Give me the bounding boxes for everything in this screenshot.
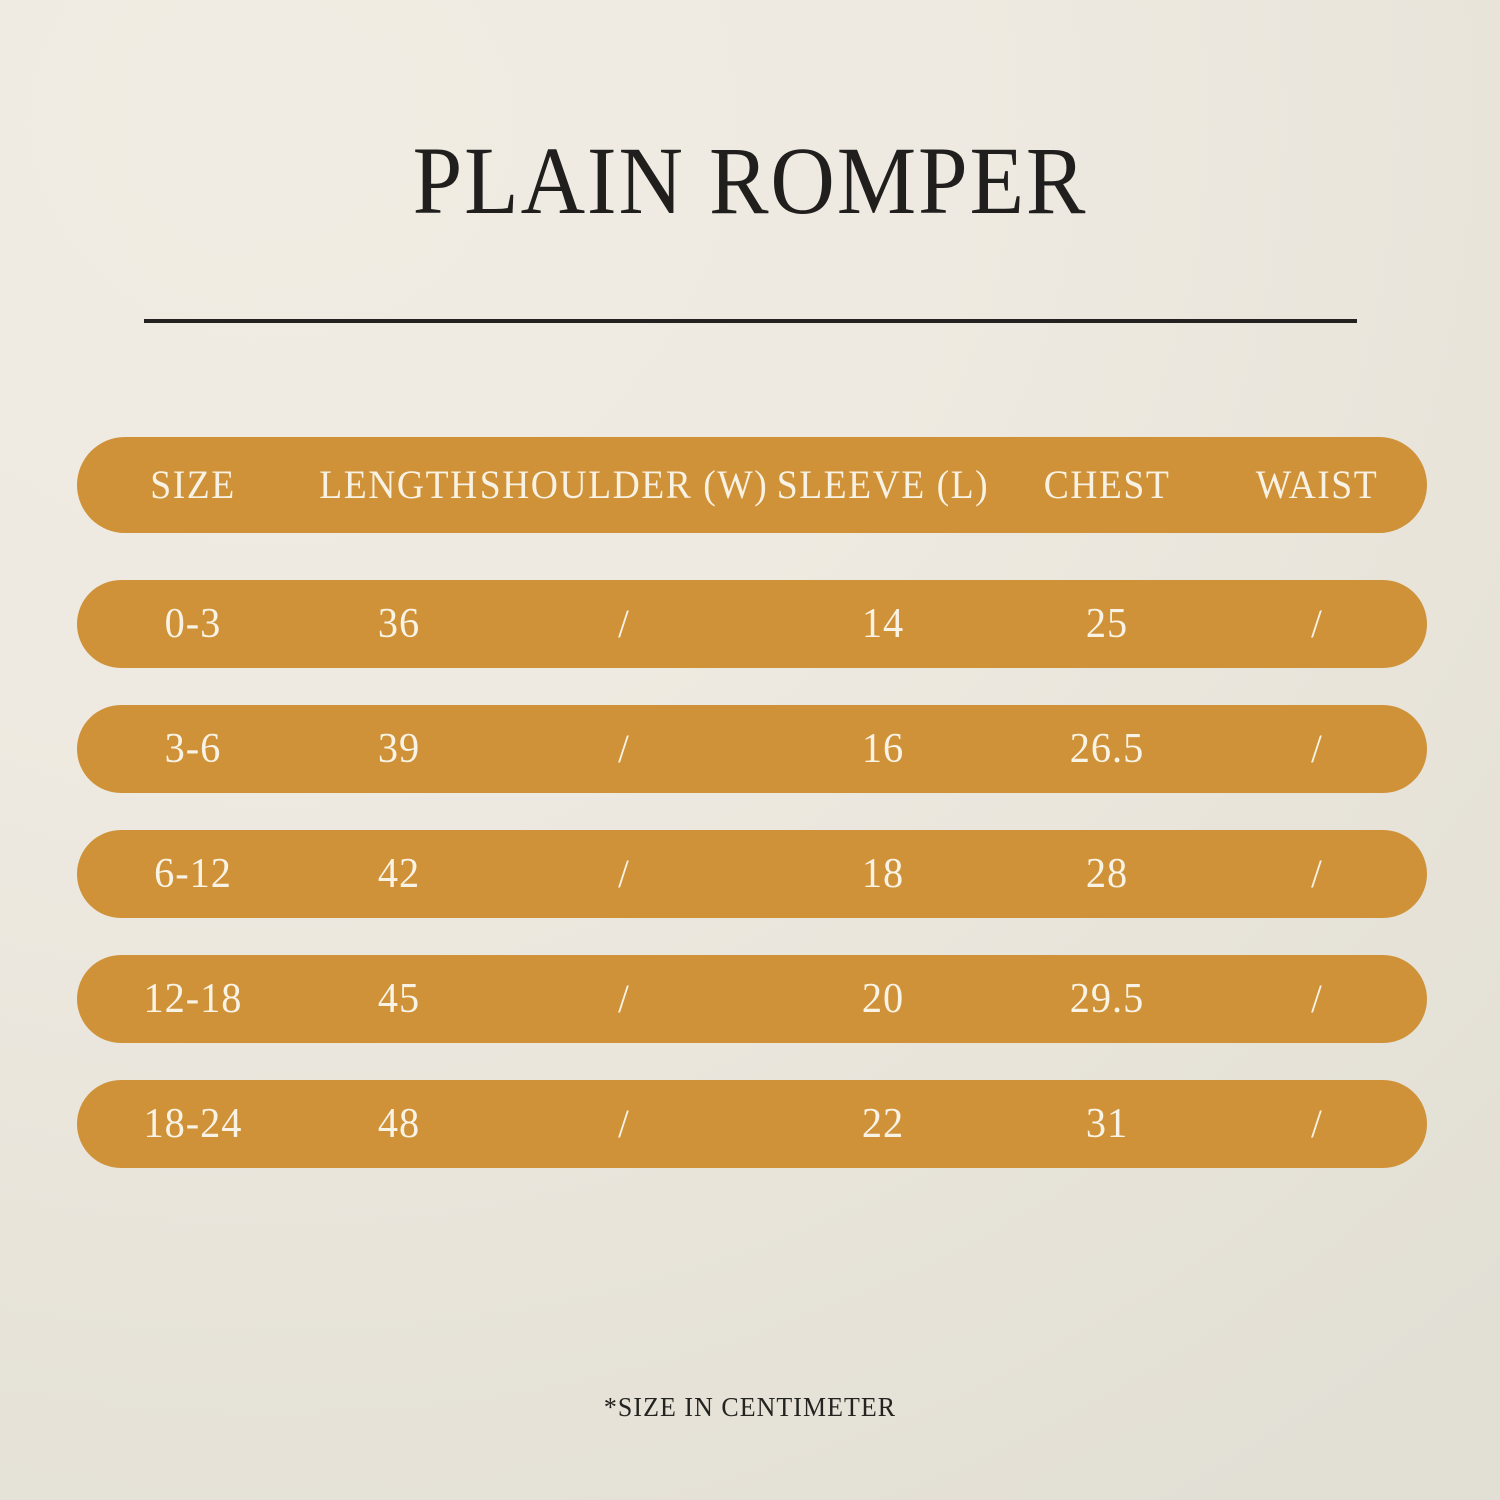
- cell-size: 12-18: [82, 978, 305, 1020]
- table-row: 12-18 45 / 20 29.5 /: [77, 955, 1427, 1043]
- cell-waist: /: [1211, 979, 1422, 1019]
- cell-shoulder: /: [494, 1104, 753, 1144]
- units-footnote: *SIZE IN CENTIMETER: [30, 1392, 1470, 1423]
- cell-chest: 26.5: [1011, 728, 1203, 770]
- cell-sleeve: 18: [764, 853, 1002, 895]
- cell-size: 0-3: [82, 603, 305, 645]
- page-title: PLAIN ROMPER: [53, 132, 1448, 230]
- size-table: SIZE LENGTH SHOULDER (W) SLEEVE (L) CHES…: [77, 437, 1427, 1168]
- cell-length: 36: [313, 603, 486, 645]
- cell-waist: /: [1211, 604, 1422, 644]
- cell-shoulder: /: [494, 604, 753, 644]
- cell-waist: /: [1211, 854, 1422, 894]
- cell-chest: 29.5: [1011, 978, 1203, 1020]
- cell-chest: 31: [1011, 1103, 1203, 1145]
- column-header-size: SIZE: [84, 465, 302, 505]
- cell-length: 48: [313, 1103, 486, 1145]
- size-chart-page: PLAIN ROMPER SIZE LENGTH SHOULDER (W) SL…: [0, 0, 1500, 1500]
- cell-sleeve: 14: [764, 603, 1002, 645]
- cell-length: 45: [313, 978, 486, 1020]
- cell-sleeve: 20: [764, 978, 1002, 1020]
- cell-sleeve: 16: [764, 728, 1002, 770]
- cell-length: 39: [313, 728, 486, 770]
- title-divider: [144, 319, 1357, 323]
- cell-length: 42: [313, 853, 486, 895]
- cell-waist: /: [1211, 1104, 1422, 1144]
- cell-shoulder: /: [494, 979, 753, 1019]
- table-row: 18-24 48 / 22 31 /: [77, 1080, 1427, 1168]
- cell-shoulder: /: [494, 854, 753, 894]
- column-header-chest: CHEST: [1013, 465, 1201, 505]
- cell-chest: 28: [1011, 853, 1203, 895]
- column-header-sleeve: SLEEVE (L): [766, 465, 999, 505]
- cell-size: 18-24: [82, 1103, 305, 1145]
- cell-size: 3-6: [82, 728, 305, 770]
- column-header-length: LENGTH: [314, 465, 483, 505]
- cell-chest: 25: [1011, 603, 1203, 645]
- table-header-row: SIZE LENGTH SHOULDER (W) SLEEVE (L) CHES…: [77, 437, 1427, 533]
- table-row: 3-6 39 / 16 26.5 /: [77, 705, 1427, 793]
- cell-waist: /: [1211, 729, 1422, 769]
- column-header-shoulder: SHOULDER (W): [497, 465, 751, 505]
- table-row: 0-3 36 / 14 25 /: [77, 580, 1427, 668]
- cell-shoulder: /: [494, 729, 753, 769]
- title-block: PLAIN ROMPER: [0, 132, 1500, 230]
- cell-size: 6-12: [82, 853, 305, 895]
- column-header-waist: WAIST: [1214, 465, 1421, 505]
- cell-sleeve: 22: [764, 1103, 1002, 1145]
- table-row: 6-12 42 / 18 28 /: [77, 830, 1427, 918]
